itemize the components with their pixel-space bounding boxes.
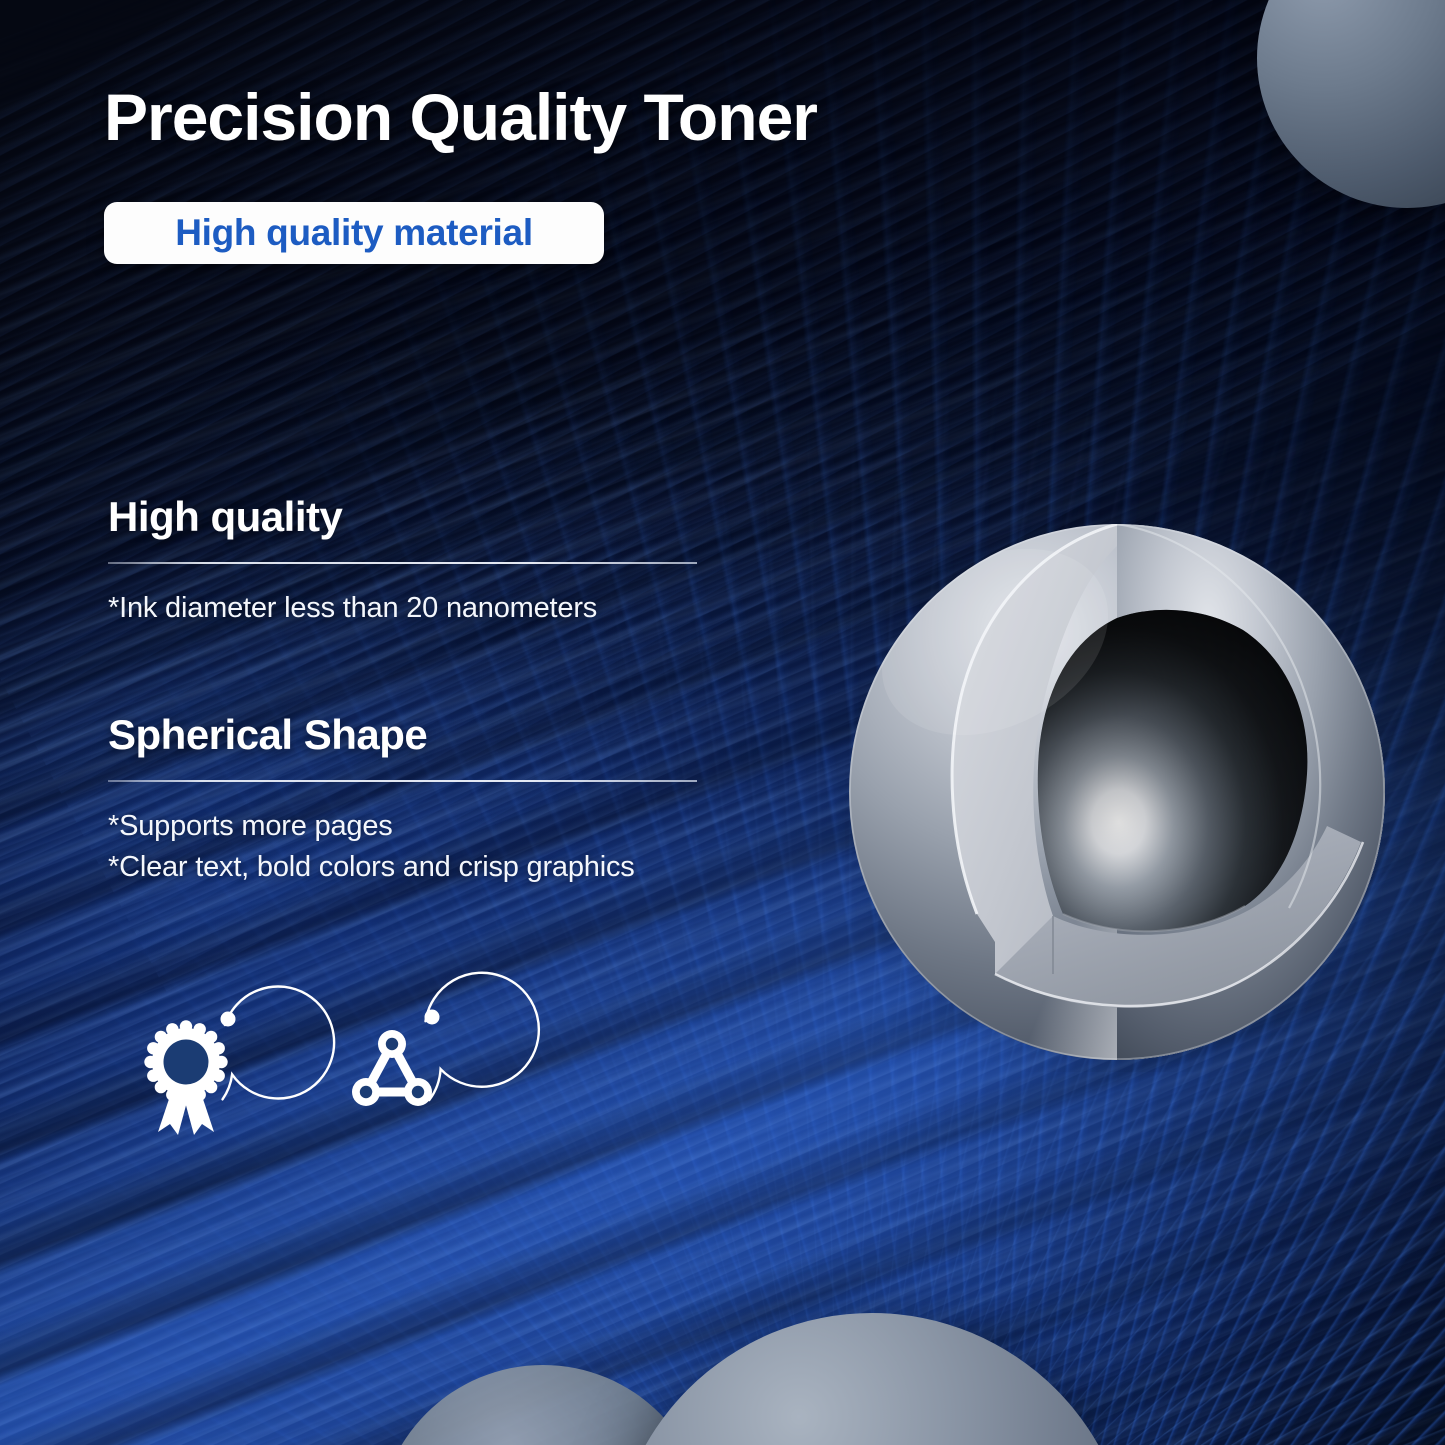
feature-icon-row: [122, 1006, 456, 1138]
feature-title: Spherical Shape: [108, 712, 700, 758]
feature-block-high-quality: High quality *Ink diameter less than 20 …: [108, 494, 700, 629]
divider: [108, 562, 697, 564]
status-badge: High quality material: [104, 202, 604, 264]
feature-bullet: *Supports more pages: [108, 806, 700, 847]
feature-bullet-list: *Ink diameter less than 20 nanometers: [108, 588, 700, 629]
award-ribbon-icon: [122, 1006, 250, 1138]
feature-bullet: *Clear text, bold colors and crisp graph…: [108, 847, 700, 888]
product-infographic: Precision Quality Toner High quality mat…: [0, 0, 1445, 1445]
molecule-triangle-icon: [328, 1006, 456, 1138]
status-badge-label: High quality material: [175, 212, 533, 254]
page-title: Precision Quality Toner: [104, 84, 817, 150]
divider: [108, 780, 697, 782]
toner-particle-cutaway: [845, 512, 1389, 1072]
feature-title: High quality: [108, 494, 700, 540]
feature-bullet-list: *Supports more pages *Clear text, bold c…: [108, 806, 700, 888]
feature-block-spherical-shape: Spherical Shape *Supports more pages *Cl…: [108, 712, 700, 889]
feature-bullet: *Ink diameter less than 20 nanometers: [108, 588, 700, 629]
